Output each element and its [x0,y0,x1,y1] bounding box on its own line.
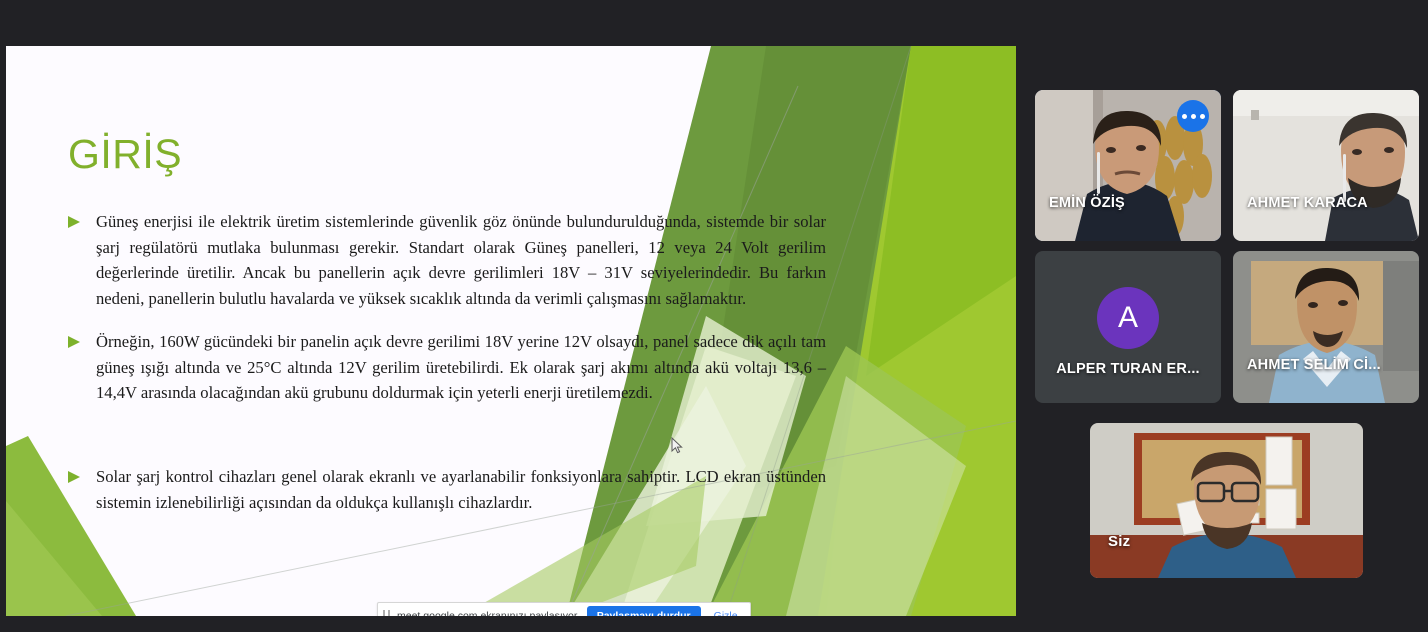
participant-video-feed [1233,90,1419,241]
participant-name: AHMET SELİM Cİ... [1247,357,1381,373]
meeting-screen: GİRİŞ Güneş enerjisi ile elektrik üretim… [0,0,1428,632]
participant-name: Siz [1108,533,1130,550]
participant-video-feed [1233,251,1419,403]
hide-notification-button[interactable]: Gizle [708,607,744,617]
self-video-feed [1090,423,1363,578]
stop-sharing-button[interactable]: Paylaşmayı durdur [587,606,701,617]
slide-content: GİRİŞ Güneş enerjisi ile elektrik üretim… [6,46,1016,616]
slide-bullet-item: Örneğin, 160W gücündeki bir panelin açık… [68,329,826,406]
participant-name: AHMET KARACA [1247,195,1368,211]
mouse-pointer-icon [671,437,683,455]
bullet-triangle-icon [68,336,80,348]
avatar: A [1097,287,1159,349]
participant-tile-ahmet-selim[interactable]: AHMET SELİM Cİ... [1233,251,1419,403]
slide-title: GİRİŞ [68,134,182,175]
slide-bullet-item: Güneş enerjisi ile elektrik üretim siste… [68,209,826,311]
screen-share-notification-bar: meet.google.com ekranınızı paylaşıyor. P… [377,602,751,616]
participant-name: EMİN ÖZİŞ [1049,195,1125,211]
participant-tile-emin-ozis[interactable]: EMİN ÖZİŞ [1035,90,1221,241]
more-options-icon[interactable] [1177,100,1209,132]
slide-bullet-text: Örneğin, 160W gücündeki bir panelin açık… [96,329,826,406]
participant-tile-alper-turan[interactable]: A ALPER TURAN ER... [1035,251,1221,403]
participant-rail: EMİN ÖZİŞ AHMET KARACA [1026,46,1428,616]
bullet-triangle-icon [68,471,80,483]
shared-screen-slide[interactable]: GİRİŞ Güneş enerjisi ile elektrik üretim… [6,46,1016,616]
slide-bullet-item: Solar şarj kontrol cihazları genel olara… [68,464,826,515]
bullet-triangle-icon [68,216,80,228]
participant-name: ALPER TURAN ER... [1056,361,1200,377]
share-status-text: meet.google.com ekranınızı paylaşıyor. [397,610,580,617]
slide-bullet-text: Güneş enerjisi ile elektrik üretim siste… [96,209,826,311]
participant-tile-self[interactable]: Siz [1090,423,1363,578]
slide-bullet-text: Solar şarj kontrol cihazları genel olara… [96,464,826,515]
pause-icon[interactable] [383,610,390,616]
participant-tile-ahmet-karaca[interactable]: AHMET KARACA [1233,90,1419,241]
